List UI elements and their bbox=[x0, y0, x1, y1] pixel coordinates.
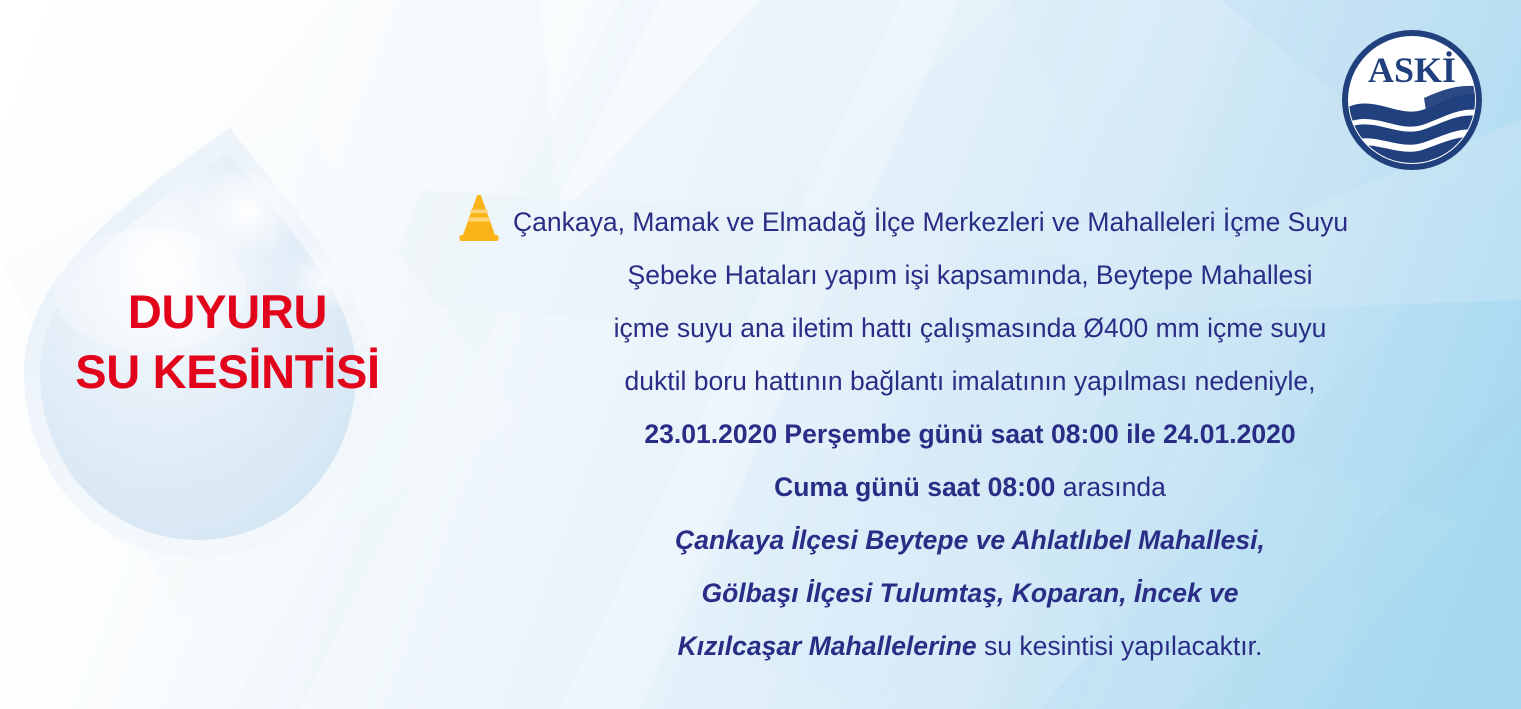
body-line-1: Çankaya, Mamak ve Elmadağ İlçe Merkezler… bbox=[465, 196, 1475, 249]
body-line-5: 23.01.2020 Perşembe günü saat 08:00 ile … bbox=[465, 408, 1475, 461]
body-line-9-regular: su kesintisi yapılacaktır. bbox=[977, 631, 1263, 661]
body-line-7-italic: Çankaya İlçesi Beytepe ve Ahlatlıbel Mah… bbox=[675, 525, 1265, 555]
announcement-banner: DUYURU SU KESİNTİSİ ASKİ bbox=[0, 0, 1521, 709]
headline-line-1: DUYURU bbox=[0, 282, 455, 342]
aski-logo: ASKİ bbox=[1338, 26, 1486, 174]
announcement-body: Çankaya, Mamak ve Elmadağ İlçe Merkezler… bbox=[465, 196, 1475, 673]
body-line-3: içme suyu ana iletim hattı çalışmasında … bbox=[465, 302, 1475, 355]
body-line-6: Cuma günü saat 08:00 arasında bbox=[465, 461, 1475, 514]
body-line-2: Şebeke Hataları yapım işi kapsamında, Be… bbox=[465, 249, 1475, 302]
body-line-6-bold: Cuma günü saat 08:00 bbox=[774, 472, 1055, 502]
body-line-8-italic: Gölbaşı İlçesi Tulumtaş, Koparan, İncek … bbox=[701, 578, 1238, 608]
traffic-cone-icon bbox=[455, 192, 503, 244]
body-line-9: Kızılcaşar Mahallelerine su kesintisi ya… bbox=[465, 620, 1475, 673]
body-line-4: duktil boru hattının bağlantı imalatının… bbox=[465, 355, 1475, 408]
body-line-9-italic: Kızılcaşar Mahallelerine bbox=[678, 631, 977, 661]
body-line-7: Çankaya İlçesi Beytepe ve Ahlatlıbel Mah… bbox=[465, 514, 1475, 567]
page-title: DUYURU SU KESİNTİSİ bbox=[0, 282, 455, 402]
body-line-6-regular: arasında bbox=[1055, 472, 1166, 502]
aski-logo-text: ASKİ bbox=[1368, 50, 1456, 90]
body-line-8: Gölbaşı İlçesi Tulumtaş, Koparan, İncek … bbox=[465, 567, 1475, 620]
headline-line-2: SU KESİNTİSİ bbox=[0, 342, 455, 402]
